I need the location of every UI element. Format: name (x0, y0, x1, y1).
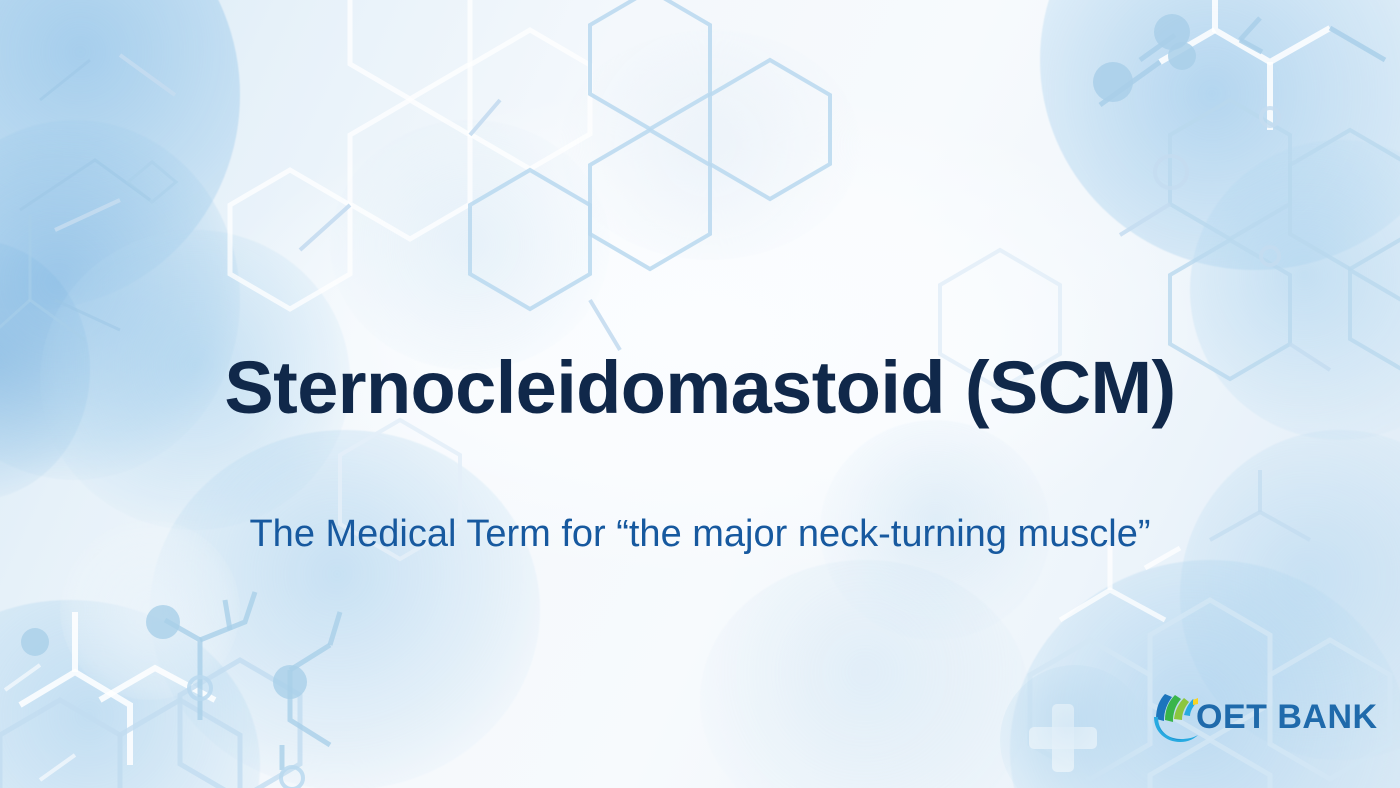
page-subtitle: The Medical Term for “the major neck-tur… (0, 512, 1400, 558)
page-title: Sternocleidomastoid (SCM) (0, 348, 1400, 428)
brand-logo: OET BANK (1148, 688, 1378, 746)
brand-logo-text: OET BANK (1196, 700, 1378, 734)
oet-swoosh-icon (1148, 689, 1200, 745)
slide-canvas: Sternocleidomastoid (SCM) The Medical Te… (0, 0, 1400, 788)
